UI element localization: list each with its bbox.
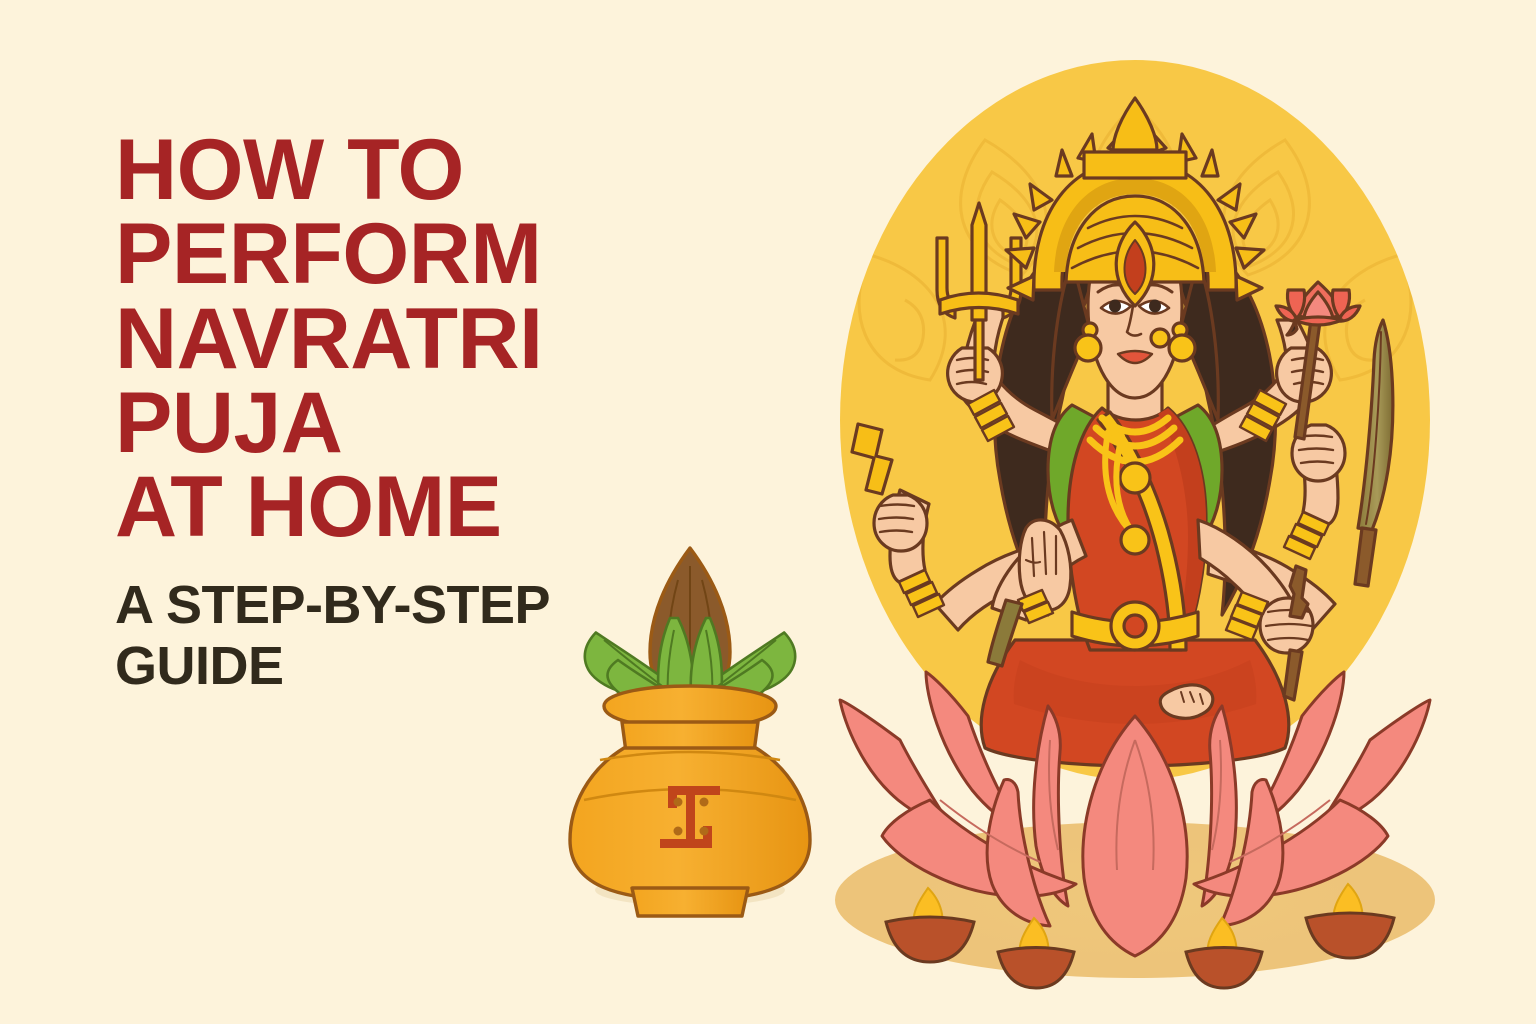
- arm-lower-left-abhaya: [992, 520, 1086, 623]
- dagger-icon: [1290, 566, 1308, 618]
- arm-middle-right: [1208, 282, 1360, 630]
- poster-canvas: HOW TO PERFORM NAVRATRI PUJA AT HOME A S…: [0, 0, 1536, 1024]
- earrings: [1075, 323, 1195, 361]
- title-line-3: NAVRATRI: [115, 297, 735, 381]
- lotus-flower-icon: [1276, 282, 1360, 335]
- deity-halo: [840, 60, 1430, 780]
- face: [1088, 244, 1182, 398]
- swastika-icon: [660, 786, 720, 848]
- lotus-seat: [840, 672, 1430, 956]
- text-content-block: HOW TO PERFORM NAVRATRI PUJA AT HOME A S…: [115, 128, 735, 696]
- pot-body: [570, 748, 810, 900]
- belt: [1072, 612, 1198, 646]
- goddess-figure: [852, 98, 1393, 766]
- trident-icon: [937, 203, 1021, 380]
- sword-icon: [1355, 320, 1393, 586]
- ground-shadow: [835, 822, 1435, 978]
- crown: [1006, 98, 1264, 306]
- hair: [994, 255, 1095, 615]
- arm-middle-left: [852, 424, 1062, 630]
- arm-lower-right: [1198, 520, 1313, 700]
- diya: [998, 918, 1074, 988]
- bindi: [1128, 266, 1142, 280]
- nose-stud: [1151, 329, 1169, 347]
- diya: [1306, 884, 1394, 958]
- title-line-5: AT HOME: [115, 465, 735, 549]
- pot-base: [632, 888, 748, 916]
- page-subtitle: A STEP-BY-STEP GUIDE: [115, 575, 595, 696]
- diya: [886, 888, 974, 962]
- club-icon: [988, 600, 1022, 666]
- vajra-icon: [852, 424, 892, 494]
- title-line-1: HOW TO: [115, 128, 735, 212]
- eyes: [1101, 300, 1169, 314]
- necklaces: [1090, 418, 1180, 462]
- page-title: HOW TO PERFORM NAVRATRI PUJA AT HOME: [115, 128, 735, 549]
- title-line-4: PUJA: [115, 381, 735, 465]
- saree-torso: [1068, 408, 1206, 650]
- title-line-2: PERFORM: [115, 212, 735, 296]
- arm-upper-right: [1206, 320, 1331, 455]
- arm-upper-left: [948, 300, 1072, 455]
- diya-lamps: [886, 884, 1394, 988]
- saree-lower: [981, 640, 1289, 766]
- blouse: [1048, 405, 1105, 540]
- diya: [1186, 918, 1262, 988]
